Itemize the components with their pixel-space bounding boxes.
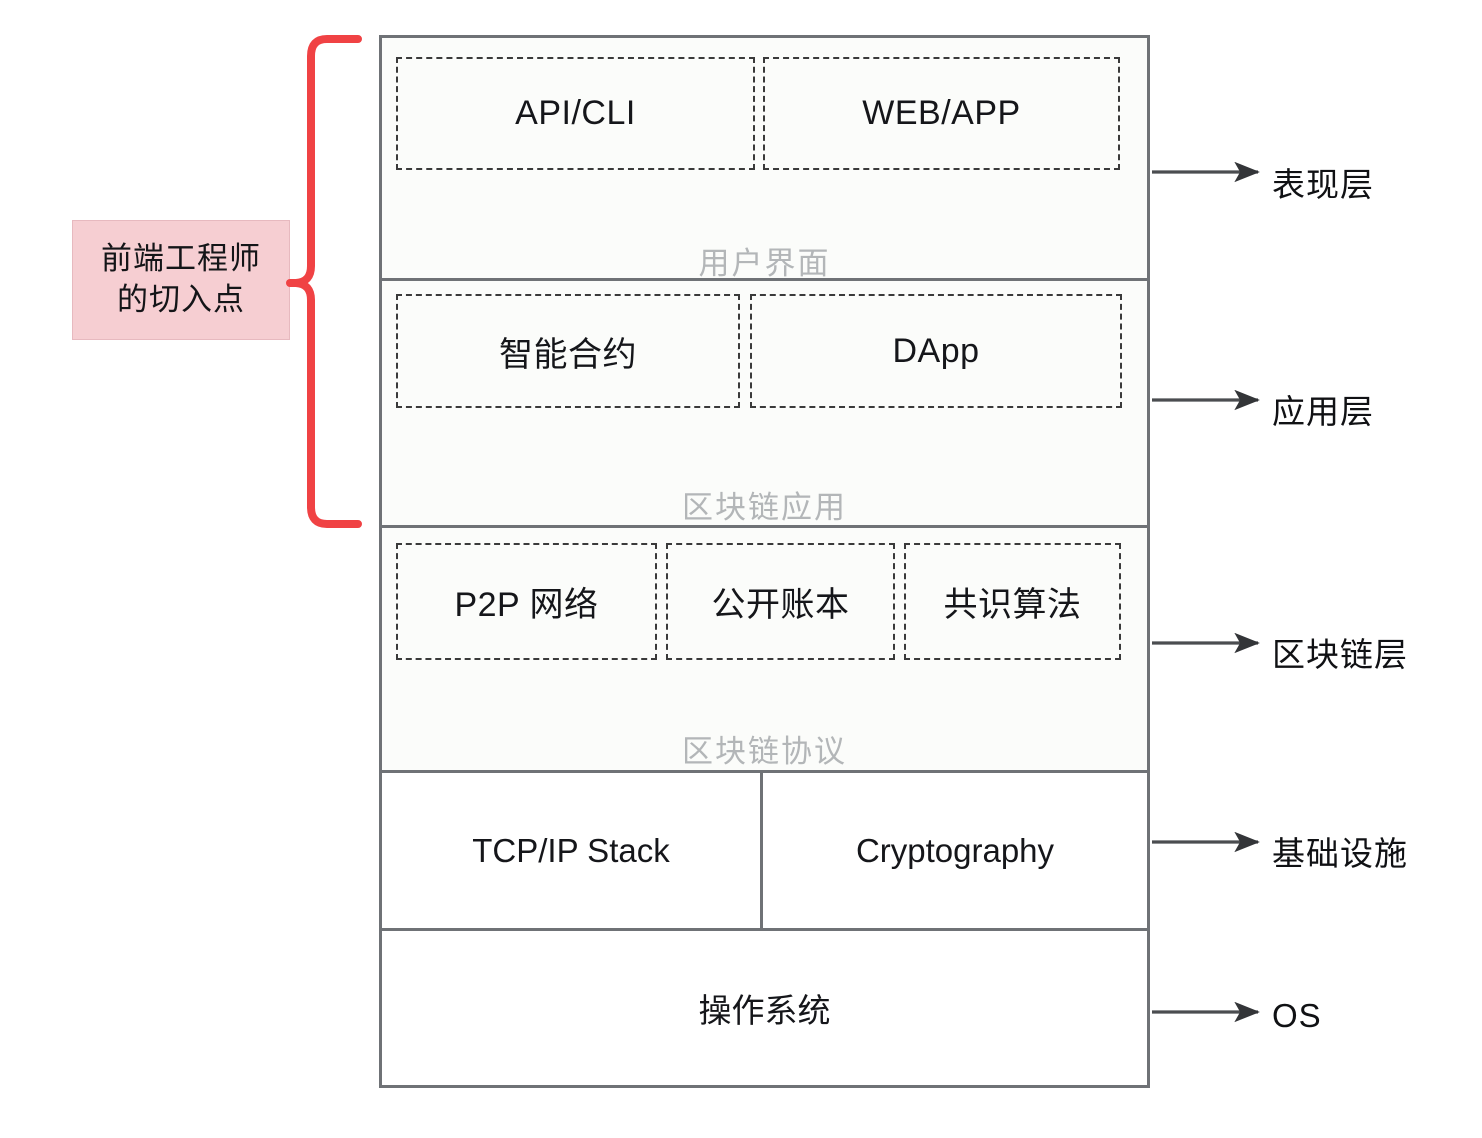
layer-blockchain-boxes: P2P 网络 公开账本 共识算法 <box>382 543 1147 660</box>
layer-infrastructure: TCP/IP Stack Cryptography <box>382 773 1147 928</box>
box-api-cli: API/CLI <box>396 57 755 170</box>
cell-cryptography-label: Cryptography <box>856 832 1054 870</box>
cell-tcp-ip-stack: TCP/IP Stack <box>382 773 763 928</box>
box-consensus-algorithm-label: 共识算法 <box>944 577 1082 626</box>
layer-blockchain-caption: 区块链协议 <box>382 726 1147 771</box>
callout-frontend-entry-point: 前端工程师 的切入点 <box>72 220 290 340</box>
right-label-infrastructure: 基础设施 <box>1272 827 1408 875</box>
layer-application: 智能合约 DApp 区块链应用 <box>382 281 1147 525</box>
right-label-os: OS <box>1272 997 1322 1035</box>
callout-line-2: 的切入点 <box>117 280 245 321</box>
box-p2p-network: P2P 网络 <box>396 543 657 660</box>
cell-operating-system-label: 操作系统 <box>699 984 831 1032</box>
box-web-app: WEB/APP <box>763 57 1120 170</box>
layer-application-caption: 区块链应用 <box>382 482 1147 527</box>
layer-presentation-caption: 用户界面 <box>382 238 1147 283</box>
cell-cryptography: Cryptography <box>763 773 1147 928</box>
box-public-ledger: 公开账本 <box>666 543 895 660</box>
box-dapp: DApp <box>750 294 1122 408</box>
architecture-stack: API/CLI WEB/APP 用户界面 智能合约 DApp 区块链应用 <box>379 35 1150 1088</box>
layer-infrastructure-cells: TCP/IP Stack Cryptography <box>382 773 1147 928</box>
diagram-canvas: 前端工程师 的切入点 API/CLI WEB/APP 用户界面 智能合约 <box>0 0 1482 1138</box>
box-consensus-algorithm: 共识算法 <box>904 543 1121 660</box>
box-web-app-label: WEB/APP <box>862 94 1020 133</box>
right-label-application: 应用层 <box>1272 385 1374 433</box>
layer-presentation: API/CLI WEB/APP 用户界面 <box>382 38 1147 278</box>
layer-os: 操作系统 <box>382 931 1147 1085</box>
box-dapp-label: DApp <box>892 332 979 371</box>
red-brace-grouping <box>290 39 358 524</box>
box-p2p-network-label: P2P 网络 <box>454 577 598 626</box>
right-label-blockchain: 区块链层 <box>1272 628 1408 676</box>
layer-os-cells: 操作系统 <box>382 931 1147 1085</box>
box-smart-contract: 智能合约 <box>396 294 740 408</box>
cell-tcp-ip-stack-label: TCP/IP Stack <box>472 832 669 870</box>
callout-line-1: 前端工程师 <box>101 239 261 280</box>
layer-blockchain: P2P 网络 公开账本 共识算法 区块链协议 <box>382 528 1147 770</box>
box-api-cli-label: API/CLI <box>515 94 636 133</box>
box-smart-contract-label: 智能合约 <box>499 327 637 376</box>
box-public-ledger-label: 公开账本 <box>712 577 850 626</box>
layer-presentation-boxes: API/CLI WEB/APP <box>382 57 1147 170</box>
layer-arrows <box>1152 172 1258 1012</box>
right-label-presentation: 表现层 <box>1272 158 1374 206</box>
layer-application-boxes: 智能合约 DApp <box>382 294 1147 408</box>
cell-operating-system: 操作系统 <box>382 931 1147 1085</box>
